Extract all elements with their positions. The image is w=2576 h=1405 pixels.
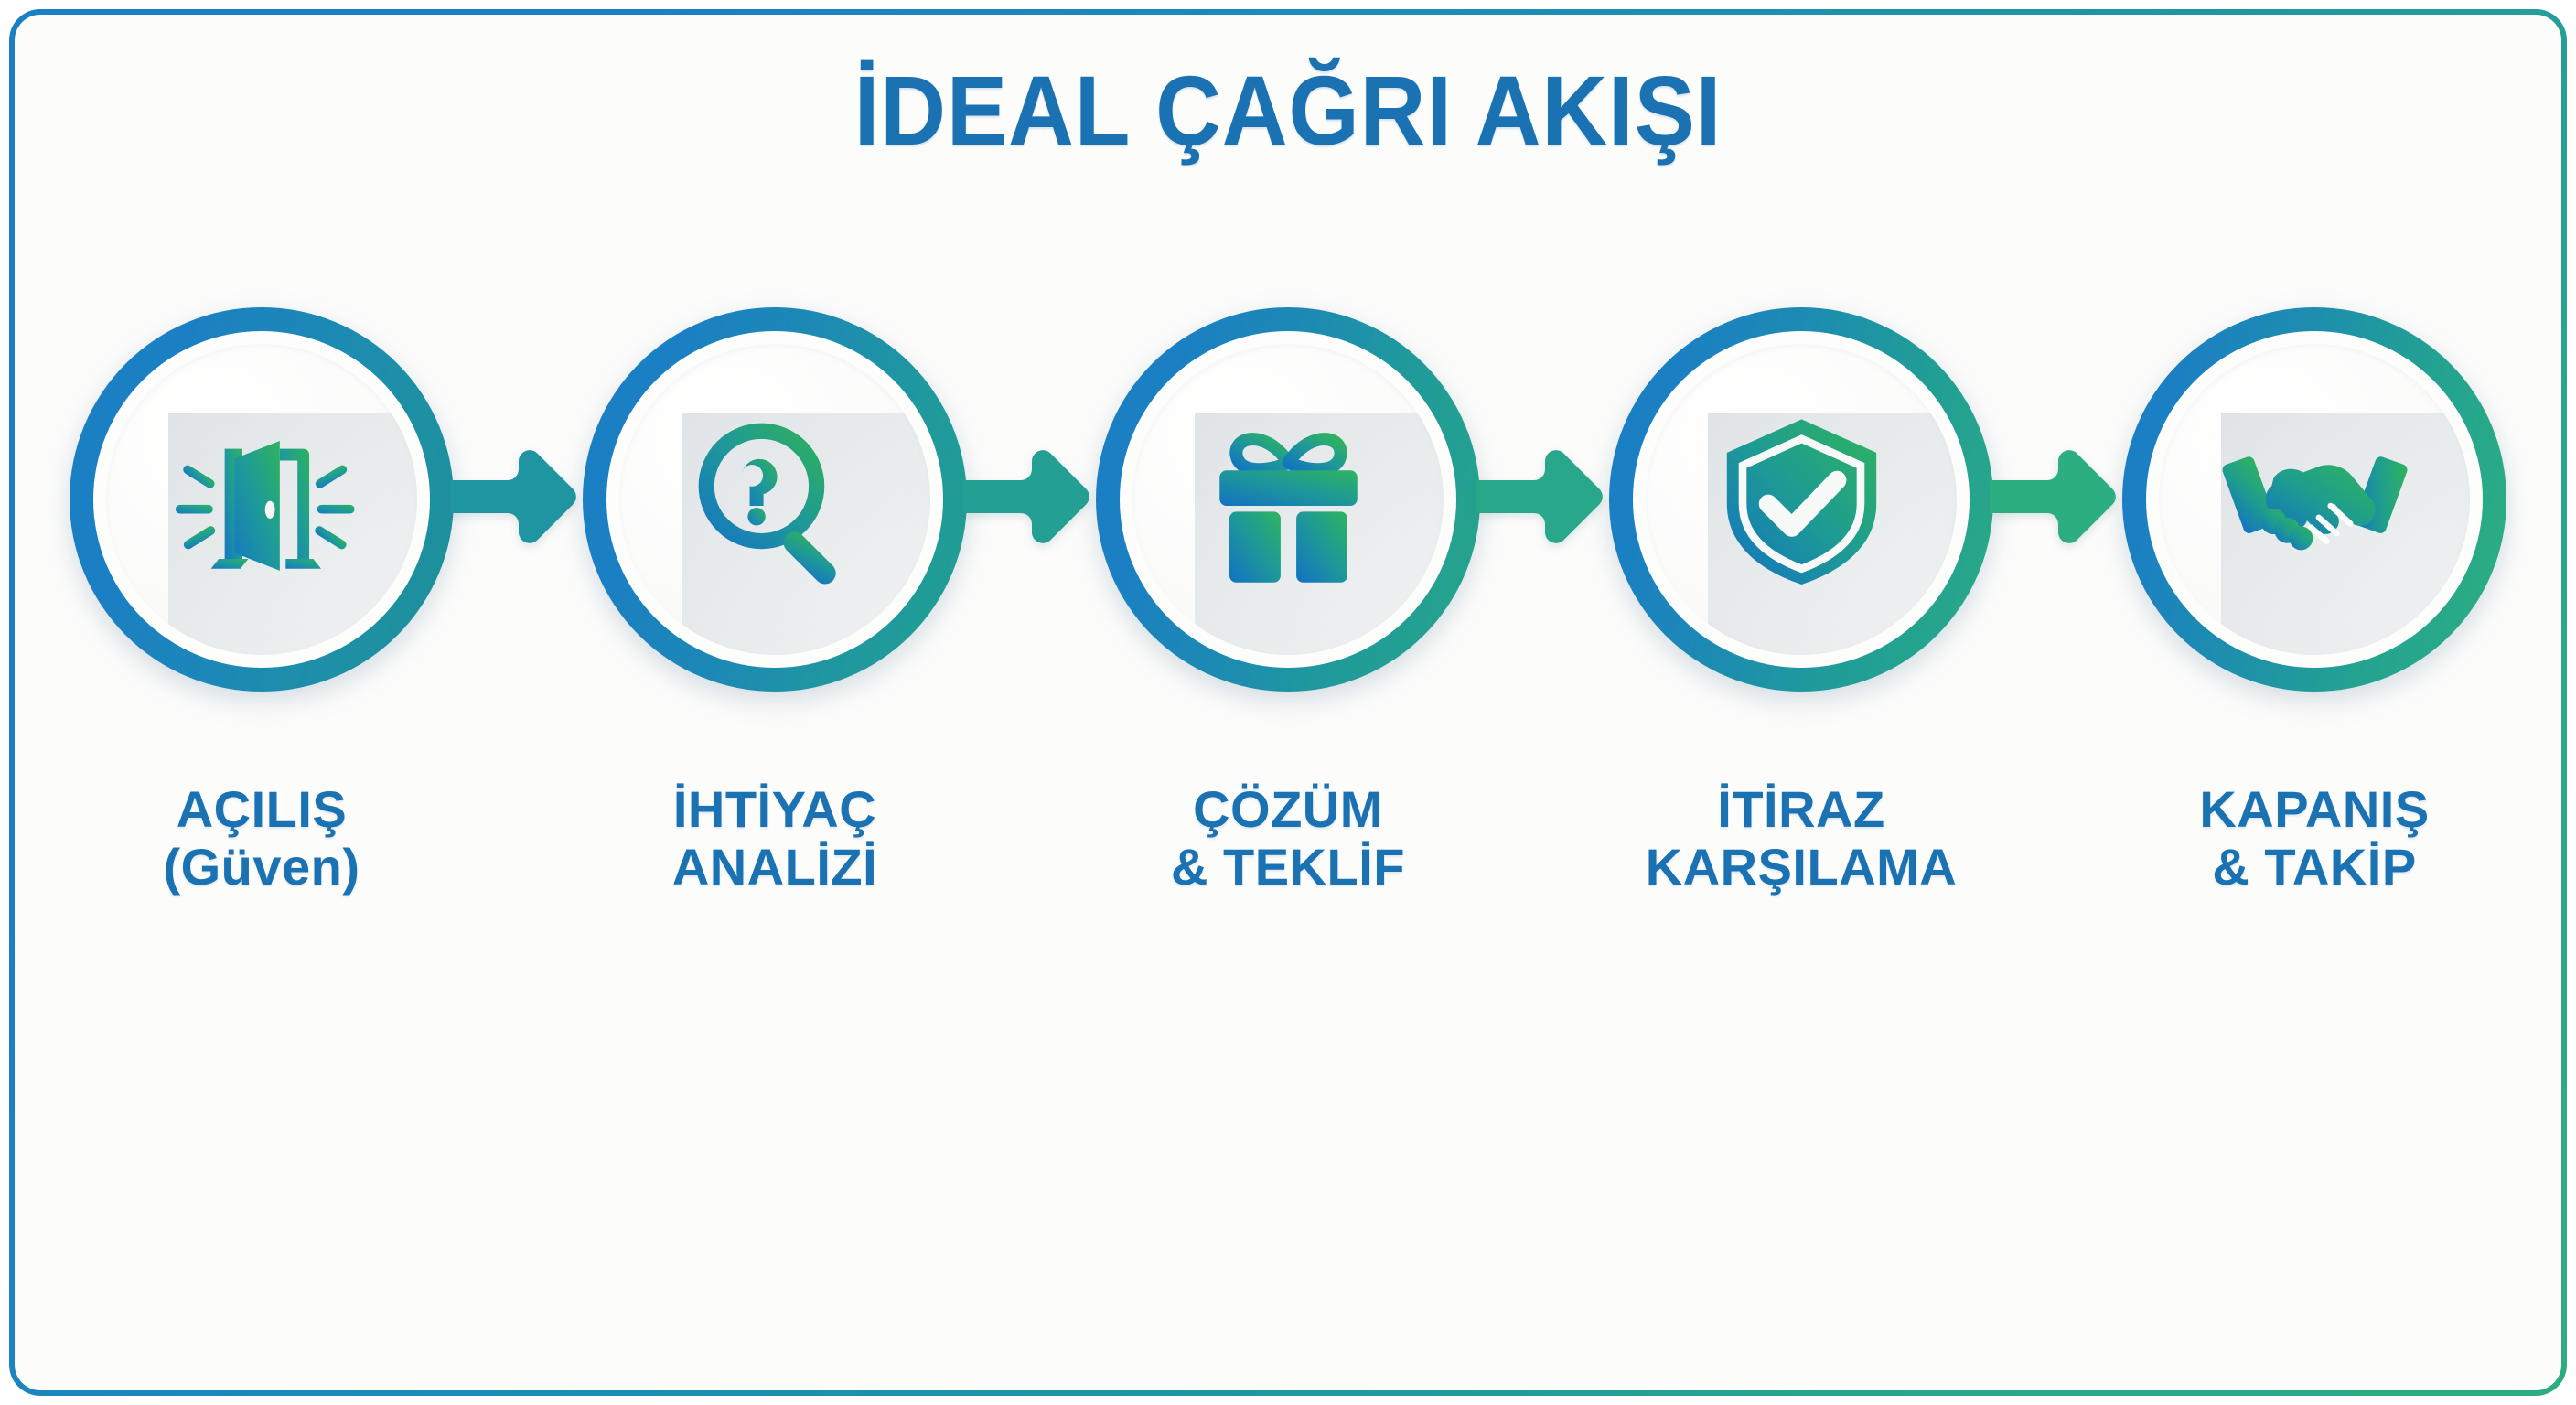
flow-arrow-1 [450,431,587,568]
step-3-label-line1: ÇÖZÜM [1193,780,1383,838]
flow-step-3[interactable] [1096,271,1480,728]
step-5-label-line2: & TAKİP [2122,839,2506,896]
page-title: İDEAL ÇAĞRI AKIŞI [116,53,2459,167]
infographic-canvas: İDEAL ÇAĞRI AKIŞI [15,15,2561,1390]
step-2-label: İHTİYAÇ ANALİZİ [583,781,967,896]
step-3-circle[interactable] [1096,307,1480,692]
step-5-label: KAPANIŞ & TAKİP [2122,781,2506,896]
step-5-label-line1: KAPANIŞ [2199,780,2429,838]
step-3-label-line2: & TEKLİF [1096,839,1480,896]
process-flow-row [70,252,2506,746]
step-1-label-line1: AÇILIŞ [177,780,348,838]
step-4-label: İTİRAZ KARŞILAMA [1609,781,1993,896]
step-labels-row: AÇILIŞ (Güven) İHTİYAÇ ANALİZİ ÇÖZÜM & T… [70,781,2506,896]
flow-step-4[interactable] [1609,271,1993,728]
step-2-label-line2: ANALİZİ [583,839,967,896]
step-2-circle[interactable] [583,307,967,692]
handshake-icon [2216,402,2413,598]
step-1-circle[interactable] [70,307,454,692]
step-1-disc [106,344,417,655]
magnifier-question-icon [677,402,874,598]
step-4-circle[interactable] [1609,307,1993,692]
step-2-label-line1: İHTİYAÇ [673,780,876,838]
flow-step-5[interactable] [2122,271,2506,728]
step-1-label-line2: (Güven) [70,839,454,896]
flow-step-2[interactable] [583,271,967,728]
flow-arrow-2 [963,431,1100,568]
flow-arrow-3 [1476,431,1614,568]
step-4-label-line2: KARŞILAMA [1609,839,1993,896]
open-door-icon [164,402,360,598]
step-3-label: ÇÖZÜM & TEKLİF [1096,781,1480,896]
flow-step-1[interactable] [70,271,454,728]
step-2-disc [619,344,930,655]
step-3-disc [1132,344,1444,655]
outer-frame: İDEAL ÇAĞRI AKIŞI [9,9,2567,1396]
step-5-disc [2159,344,2470,655]
shield-check-icon [1703,402,1900,598]
step-4-disc [1646,344,1957,655]
step-1-label: AÇILIŞ (Güven) [70,781,454,896]
gift-box-icon [1190,402,1387,598]
step-5-circle[interactable] [2122,307,2506,692]
step-4-label-line1: İTİRAZ [1717,780,1884,838]
flow-arrow-4 [1990,431,2127,568]
